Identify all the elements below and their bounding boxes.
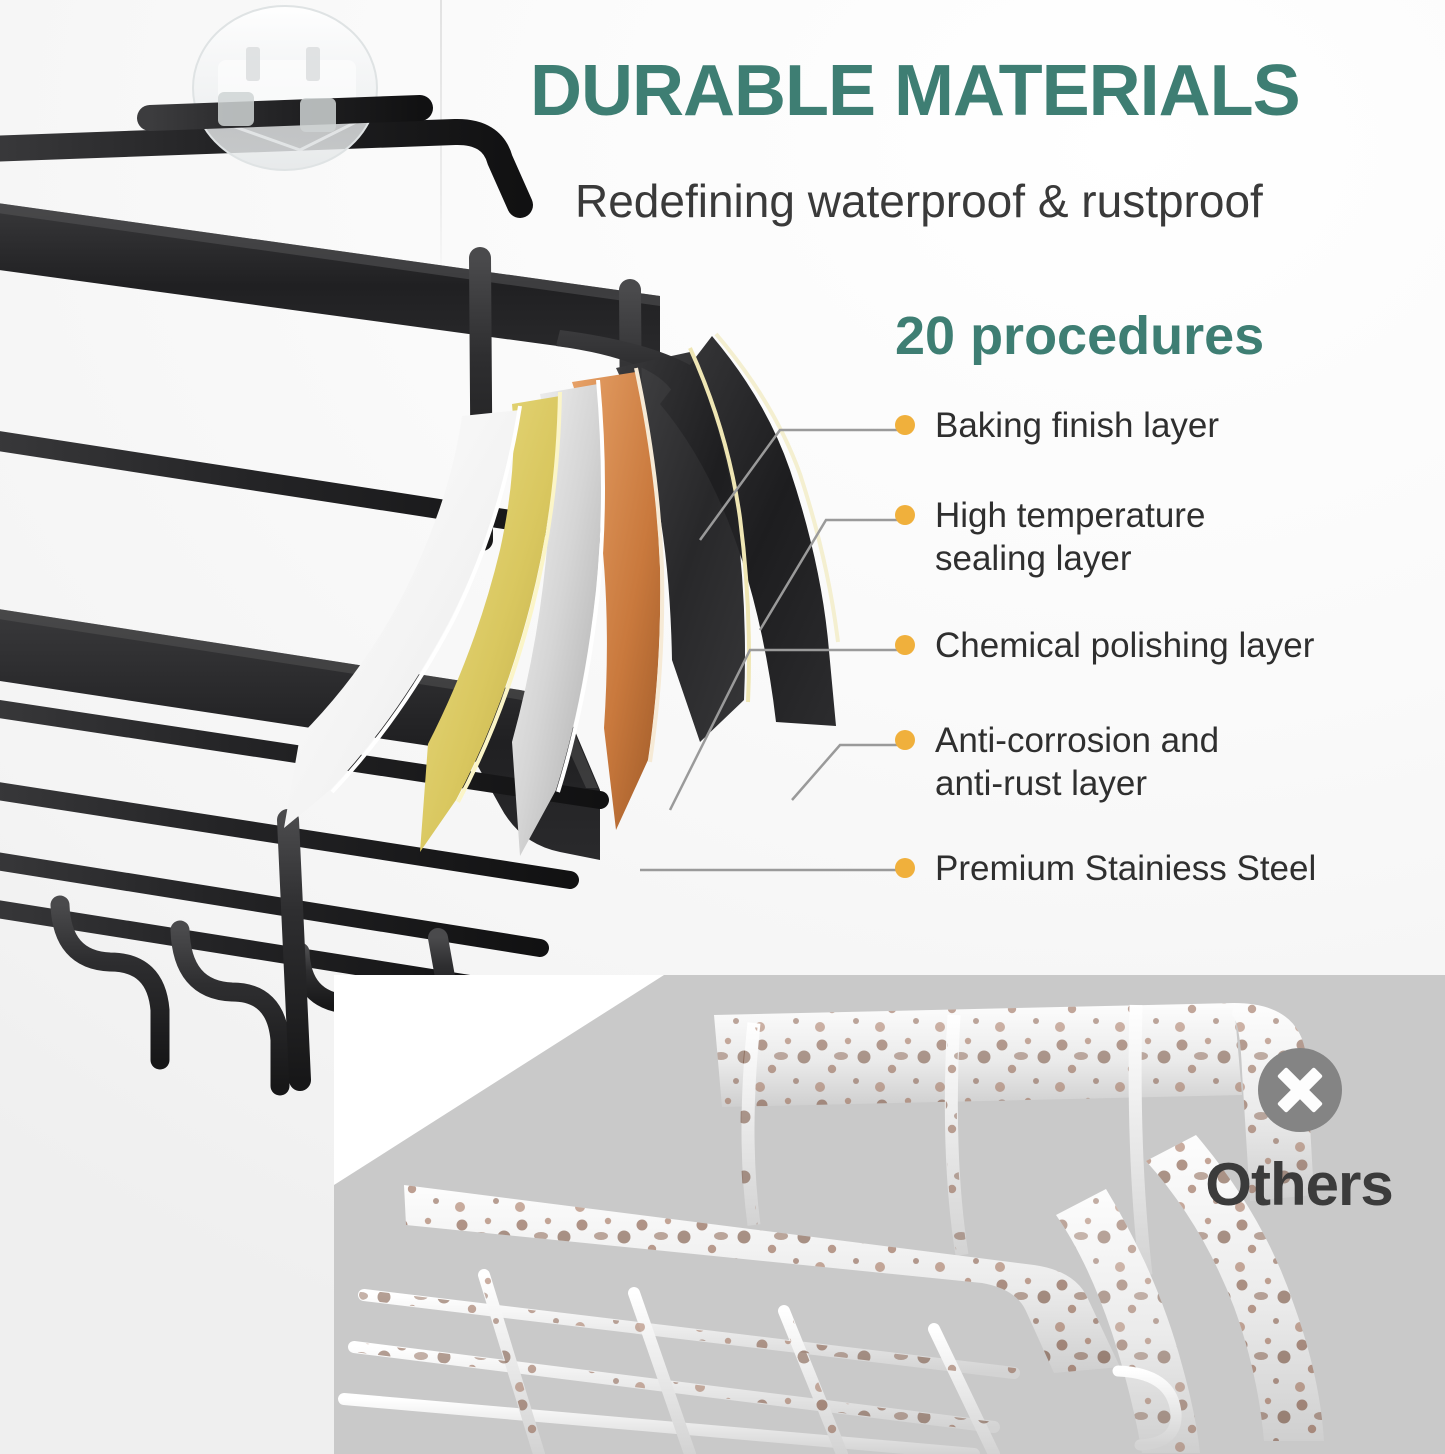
bullet-dot-icon (895, 730, 915, 750)
list-item-label: High temperature sealing layer (935, 495, 1205, 580)
list-item: Anti-corrosion and anti-rust layer (895, 720, 1219, 805)
page-title: DURABLE MATERIALS (530, 55, 1435, 127)
list-item: High temperature sealing layer (895, 495, 1205, 580)
bullet-dot-icon (895, 635, 915, 655)
list-item: Baking finish layer (895, 405, 1219, 448)
bullet-dot-icon (895, 858, 915, 878)
list-item-label: Chemical polishing layer (935, 625, 1314, 668)
list-item-label: Premium Stainiess Steel (935, 848, 1316, 891)
adhesive-mount (193, 6, 377, 170)
bullet-dot-icon (895, 415, 915, 435)
list-item-label: Anti-corrosion and anti-rust layer (935, 720, 1219, 805)
x-circle-icon (1258, 1048, 1342, 1132)
others-label: Others (1174, 1150, 1424, 1219)
procedures-heading: 20 procedures (895, 305, 1264, 367)
infographic-canvas: DURABLE MATERIALS Redefining waterproof … (0, 0, 1445, 1454)
list-item: Chemical polishing layer (895, 625, 1314, 668)
bullet-dot-icon (895, 505, 915, 525)
page-subtitle: Redefining waterproof & rustproof (575, 175, 1445, 228)
peeling-layers (284, 334, 838, 856)
list-item-label: Baking finish layer (935, 405, 1219, 448)
list-item: Premium Stainiess Steel (895, 848, 1316, 891)
